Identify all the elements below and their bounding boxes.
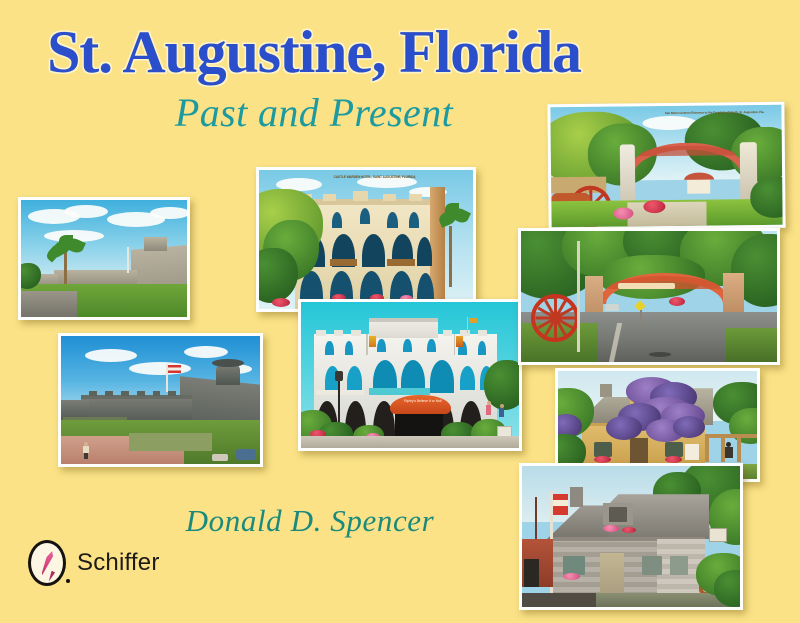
publisher-name: Schiffer [77, 549, 160, 577]
author-name: Donald D. Spencer [0, 503, 620, 539]
person-figure [83, 442, 89, 459]
postcard-caption-castle-warden: CASTLE WARDEN HOTEL, SAINT AUGUSTINE, FL… [319, 175, 430, 179]
photo-castillo-de-san-marcos-vintage-postcard [18, 197, 190, 320]
page-subtitle: Past and Present [0, 89, 628, 136]
publisher-imprint: Schiffer [28, 540, 160, 586]
photo-castle-warden-hotel-vintage-postcard: CASTLE WARDEN HOTEL, SAINT AUGUSTINE, FL… [256, 167, 476, 312]
quill-pen-oval-icon [28, 540, 66, 586]
photo-fountain-of-youth-arch-modern-photo [518, 228, 780, 365]
awning-text: Ripley's Believe It or Not! [401, 400, 445, 407]
page-title: St. Augustine, Florida [0, 22, 628, 83]
photo-castle-warden-ripleys-modern-photo: Ripley's Believe It or Not! [298, 299, 522, 451]
wagon-wheel-icon [531, 294, 579, 342]
photo-castillo-de-san-marcos-modern-photo [58, 333, 263, 467]
title-block: St. Augustine, Florida Past and Present [0, 22, 628, 136]
flag-icon [168, 365, 181, 373]
book-cover: San Marco Avenue Entrance to the Fountai… [0, 0, 800, 623]
